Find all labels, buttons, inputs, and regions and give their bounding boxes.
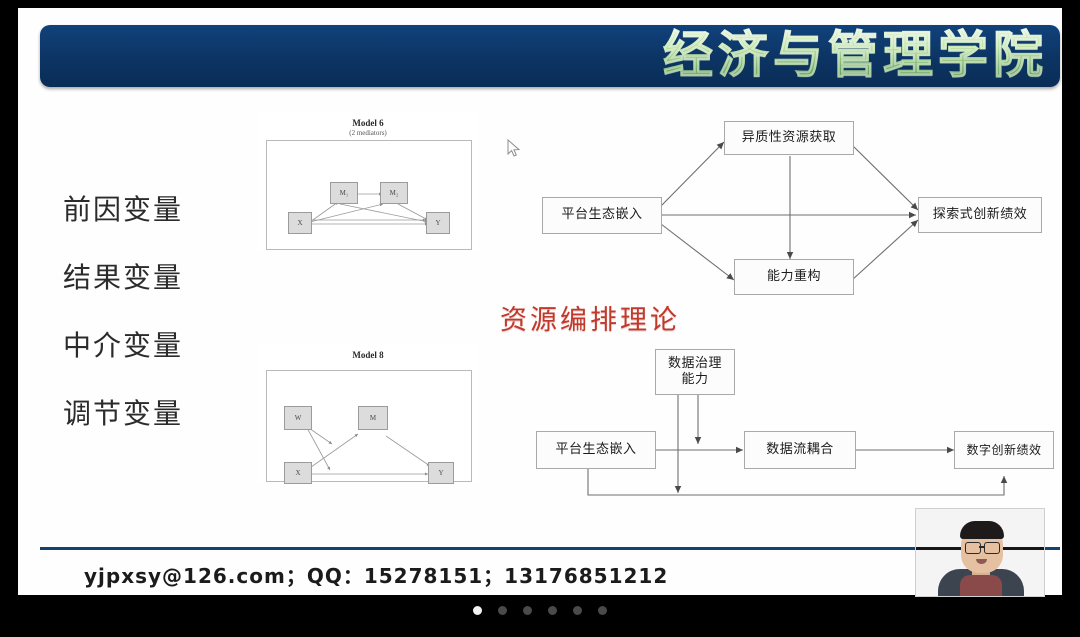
moderator-line-2: 能力 (681, 372, 708, 388)
slide-pager-dots[interactable] (0, 600, 1080, 620)
school-name-title: 经济与管理学院 (663, 23, 1048, 87)
moderator-line-1: 数据治理 (668, 356, 722, 372)
box-heterogeneous-resource-acquisition: 异质性资源获取 (724, 121, 854, 155)
label-mediator-variable: 中介变量 (63, 324, 183, 364)
pager-dot[interactable] (473, 606, 482, 615)
presenter-glasses-left (965, 542, 981, 554)
hayes-node-m2: M₂ (380, 182, 408, 204)
footer-contact-text: yjpxsy@126.com；QQ：15278151；13176851212 (84, 560, 668, 589)
hayes-node-y: Y (426, 212, 450, 234)
label-antecedent-variable: 前因变量 (63, 188, 183, 228)
hayes8-node-y: Y (428, 462, 454, 484)
video-player-screen: 经济与管理学院 前因变量 结果变量 中介变量 调节变量 Model 6 (2 m… (0, 0, 1080, 637)
pager-dot[interactable] (573, 606, 582, 615)
hayes-model-6-figure: Model 6 (2 mediators) (258, 112, 478, 252)
pager-dot[interactable] (523, 606, 532, 615)
mouse-cursor-icon (507, 139, 521, 159)
box-exploratory-innovation-performance: 探索式创新绩效 (918, 197, 1042, 233)
box-platform-ecosystem-embedding-top: 平台生态嵌入 (542, 197, 662, 234)
box-data-governance-capability: 数据治理 能力 (655, 349, 735, 395)
hayes-model-8-figure: Model 8 W M X Y (258, 344, 478, 484)
slide-header-banner: 经济与管理学院 (40, 25, 1060, 87)
presentation-slide: 经济与管理学院 前因变量 结果变量 中介变量 调节变量 Model 6 (2 m… (18, 8, 1062, 595)
box-platform-ecosystem-embedding-bottom: 平台生态嵌入 (536, 431, 656, 469)
box-digital-innovation-performance: 数字创新绩效 (954, 431, 1054, 469)
pager-dot[interactable] (548, 606, 557, 615)
hayes8-node-x: X (284, 462, 312, 484)
label-moderator-variable: 调节变量 (63, 392, 183, 432)
presenter-hair (960, 521, 1004, 539)
resource-orchestration-theory-label: 资源编排理论 (500, 298, 680, 337)
footer-divider (40, 547, 1060, 550)
label-outcome-variable: 结果变量 (63, 256, 183, 296)
box-data-flow-coupling: 数据流耦合 (744, 431, 856, 469)
presenter-glasses-right (984, 542, 1000, 554)
hayes8-node-w: W (284, 406, 312, 430)
box-capability-reconfiguration: 能力重构 (734, 259, 854, 295)
pager-dot[interactable] (498, 606, 507, 615)
presenter-glasses-bridge (979, 546, 984, 548)
hayes-node-x: X (288, 212, 312, 234)
pager-dot[interactable] (598, 606, 607, 615)
hayes8-node-m: M (358, 406, 388, 430)
presenter-webcam-thumbnail[interactable] (915, 508, 1045, 597)
presenter-shirt (960, 575, 1002, 597)
hayes-node-m1: M₁ (330, 182, 358, 204)
